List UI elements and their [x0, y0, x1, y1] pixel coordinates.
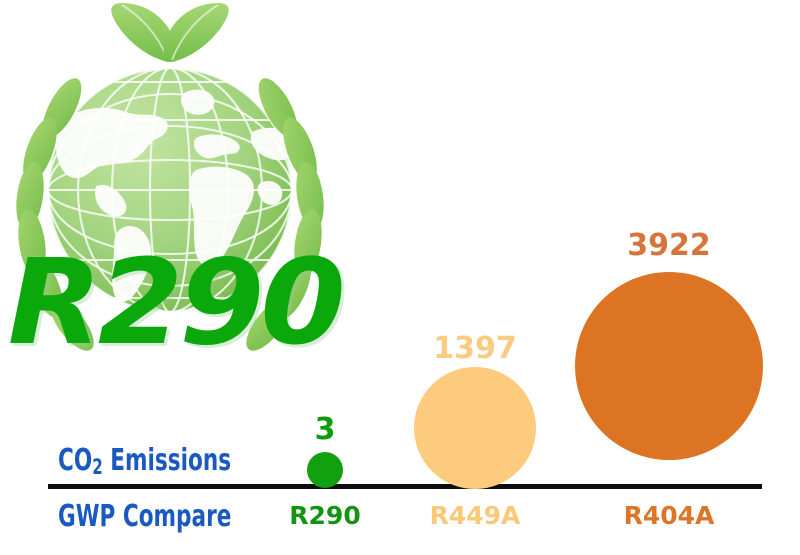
- gwp-compare-caption: GWP Compare: [58, 502, 231, 532]
- infographic-canvas: R290 CO2 Emissions GWP Compare 3 R290 13…: [0, 0, 800, 555]
- gwp-bubble-chart: CO2 Emissions GWP Compare 3 R290 1397 R4…: [0, 0, 800, 555]
- bubble-label-r404a: R404A: [609, 503, 729, 528]
- bubble-r449a[interactable]: [414, 367, 536, 489]
- bubble-r404a[interactable]: [575, 272, 763, 460]
- bubble-r290[interactable]: [307, 452, 343, 488]
- chart-baseline: [48, 484, 762, 489]
- co2-caption-tail: Emissions: [103, 443, 231, 478]
- co2-caption-main: CO: [58, 443, 92, 478]
- co2-caption-subscript: 2: [92, 455, 103, 479]
- bubble-label-r290: R290: [265, 503, 385, 528]
- bubble-value-r290: 3: [285, 415, 365, 445]
- bubble-value-r404a: 3922: [619, 231, 719, 261]
- bubble-label-r449a: R449A: [415, 503, 535, 528]
- co2-emissions-caption: CO2 Emissions: [58, 446, 231, 478]
- bubble-value-r449a: 1397: [425, 334, 525, 364]
